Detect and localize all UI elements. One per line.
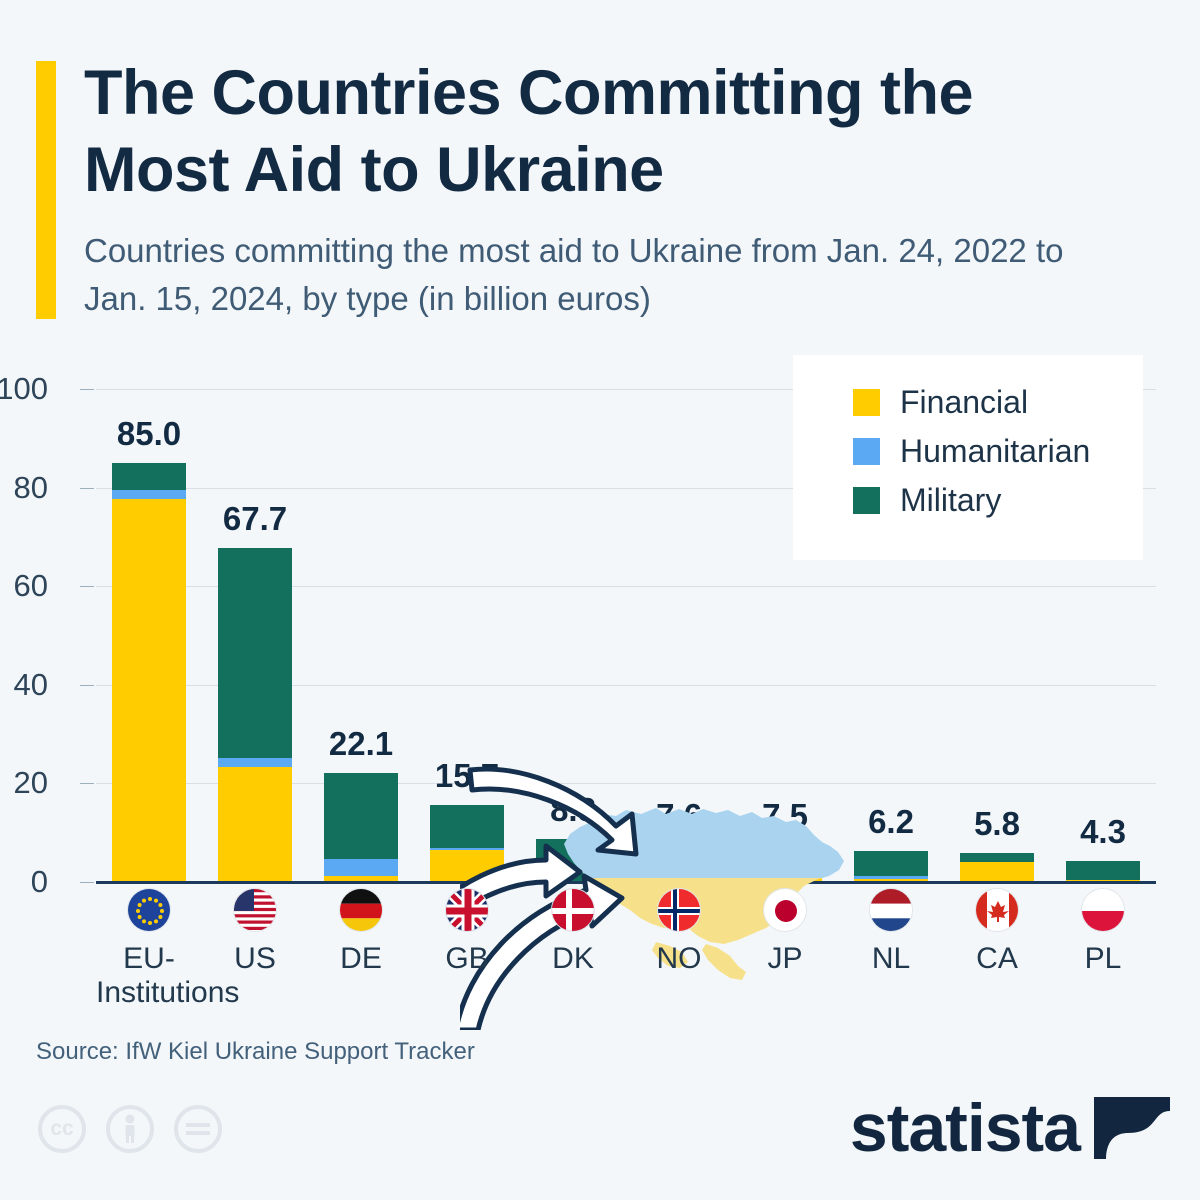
bar-column[interactable] bbox=[642, 845, 716, 882]
y-tick-label: 20 bbox=[0, 767, 48, 798]
cc-noderivs-icon bbox=[174, 1105, 222, 1153]
bar-column[interactable] bbox=[748, 845, 822, 882]
legend-swatch-financial bbox=[853, 389, 880, 416]
bar-value-label: 7.6 bbox=[656, 797, 702, 835]
bar-segment-military[interactable] bbox=[324, 773, 398, 859]
bar-column[interactable] bbox=[1066, 861, 1140, 882]
bar-segment-financial[interactable] bbox=[642, 862, 716, 882]
x-axis-item[interactable]: DE bbox=[308, 888, 414, 976]
bar-value-label: 22.1 bbox=[329, 725, 393, 763]
bar-column[interactable] bbox=[430, 805, 504, 882]
bar-segment-humanitarian[interactable] bbox=[218, 758, 292, 767]
bar-value-label: 15.7 bbox=[435, 757, 499, 795]
bar-value-label: 5.8 bbox=[974, 805, 1020, 843]
legend-swatch-military bbox=[853, 487, 880, 514]
bar-segment-humanitarian[interactable] bbox=[112, 490, 186, 499]
bar-value-label: 7.5 bbox=[762, 797, 808, 835]
legend-item-humanitarian[interactable]: Humanitarian bbox=[853, 432, 1143, 470]
bar-value-label: 67.7 bbox=[223, 500, 287, 538]
cc-attribution-icon bbox=[106, 1105, 154, 1153]
x-axis-label: CA bbox=[944, 942, 1050, 976]
bar-column[interactable] bbox=[324, 773, 398, 882]
bar-segment-humanitarian[interactable] bbox=[854, 876, 928, 878]
x-axis-label: GB bbox=[414, 942, 520, 976]
y-tick-label: 40 bbox=[0, 669, 48, 700]
y-tick-label: 0 bbox=[0, 866, 48, 897]
x-axis-label: DE bbox=[308, 942, 414, 976]
bar-segment-military[interactable] bbox=[536, 839, 610, 882]
jp-flag bbox=[763, 888, 807, 932]
header: The Countries Committing the Most Aid to… bbox=[36, 55, 1156, 325]
page-subtitle: Countries committing the most aid to Ukr… bbox=[84, 227, 1114, 323]
bar-segment-military[interactable] bbox=[1066, 861, 1140, 880]
x-axis-item[interactable]: US bbox=[202, 888, 308, 976]
equals-glyph bbox=[185, 1121, 211, 1137]
x-axis-label: JP bbox=[732, 942, 838, 976]
legend-label-financial: Financial bbox=[900, 386, 1028, 418]
legend-item-financial[interactable]: Financial bbox=[853, 383, 1143, 421]
source-note: Source: IfW Kiel Ukraine Support Tracker bbox=[36, 1038, 475, 1066]
accent-bar bbox=[36, 61, 56, 319]
bar-segment-humanitarian[interactable] bbox=[748, 845, 822, 852]
bar-column[interactable] bbox=[112, 463, 186, 882]
x-axis-item[interactable]: GB bbox=[414, 888, 520, 976]
x-axis-label: EU- Institutions bbox=[96, 942, 202, 1010]
statista-wordmark: statista bbox=[850, 1094, 1080, 1162]
gb-flag bbox=[445, 888, 489, 932]
bar-column[interactable] bbox=[218, 548, 292, 882]
bar-column[interactable] bbox=[536, 839, 610, 882]
x-axis-categories: EU- InstitutionsUSDEGBDKNOJPNLCAPL bbox=[96, 888, 1156, 1013]
bar-segment-financial[interactable] bbox=[960, 862, 1034, 882]
x-axis-label: DK bbox=[520, 942, 626, 976]
bar-value-label: 6.2 bbox=[868, 803, 914, 841]
bar-segment-military[interactable] bbox=[960, 853, 1034, 862]
x-axis-label: PL bbox=[1050, 942, 1156, 976]
cc-icon: cc bbox=[38, 1105, 86, 1153]
x-axis-label: NO bbox=[626, 942, 732, 976]
legend-label-military: Military bbox=[900, 484, 1001, 516]
legend-item-military[interactable]: Military bbox=[853, 481, 1143, 519]
bar-segment-financial[interactable] bbox=[748, 852, 822, 882]
nl-flag bbox=[869, 888, 913, 932]
us-flag bbox=[233, 888, 277, 932]
x-axis-item[interactable]: PL bbox=[1050, 888, 1156, 976]
bar-segment-humanitarian[interactable] bbox=[324, 859, 398, 876]
legend-label-humanitarian: Humanitarian bbox=[900, 435, 1090, 467]
no-flag bbox=[657, 888, 701, 932]
y-tick-mark bbox=[80, 685, 94, 686]
bar-value-label: 8.8 bbox=[550, 791, 596, 829]
eu-flag bbox=[127, 888, 171, 932]
dk-flag bbox=[551, 888, 595, 932]
bar-segment-military[interactable] bbox=[854, 851, 928, 876]
ca-flag bbox=[975, 888, 1019, 932]
de-flag bbox=[339, 888, 383, 932]
x-axis-item[interactable]: NL bbox=[838, 888, 944, 976]
y-tick-label: 100 bbox=[0, 373, 48, 404]
y-tick-mark bbox=[80, 783, 94, 784]
legend-swatch-humanitarian bbox=[853, 438, 880, 465]
x-axis-line bbox=[96, 881, 1156, 884]
license-icons: cc bbox=[38, 1105, 222, 1153]
x-axis-label: US bbox=[202, 942, 308, 976]
bar-column[interactable] bbox=[854, 851, 928, 882]
x-axis-item[interactable]: JP bbox=[732, 888, 838, 976]
x-axis-item[interactable]: DK bbox=[520, 888, 626, 976]
bar-segment-military[interactable] bbox=[218, 548, 292, 758]
bar-value-label: 4.3 bbox=[1080, 813, 1126, 851]
infographic-page: The Countries Committing the Most Aid to… bbox=[0, 0, 1200, 1200]
page-title: The Countries Committing the Most Aid to… bbox=[84, 55, 1084, 209]
bar-column[interactable] bbox=[960, 853, 1034, 882]
pl-flag bbox=[1081, 888, 1125, 932]
statista-s-mark bbox=[1094, 1097, 1170, 1159]
chart-legend: Financial Humanitarian Military bbox=[793, 355, 1143, 560]
bar-segment-military[interactable] bbox=[430, 805, 504, 849]
x-axis-item[interactable]: EU- Institutions bbox=[96, 888, 202, 1010]
person-glyph bbox=[119, 1114, 141, 1144]
statista-logo: statista bbox=[850, 1094, 1170, 1162]
y-tick-mark bbox=[80, 389, 94, 390]
y-tick-label: 60 bbox=[0, 570, 48, 601]
bar-segment-military[interactable] bbox=[642, 845, 716, 863]
bar-value-label: 85.0 bbox=[117, 415, 181, 453]
bar-segment-financial[interactable] bbox=[218, 767, 292, 882]
bar-segment-financial[interactable] bbox=[430, 850, 504, 882]
bar-segment-humanitarian[interactable] bbox=[430, 848, 504, 850]
y-tick-label: 80 bbox=[0, 472, 48, 503]
chart-region: 020406080100 85.067.722.115.78.87.67.56.… bbox=[0, 355, 1200, 915]
bar-segment-financial[interactable] bbox=[112, 499, 186, 882]
x-axis-label: NL bbox=[838, 942, 944, 976]
y-tick-mark bbox=[80, 586, 94, 587]
y-tick-mark bbox=[80, 488, 94, 489]
bar-segment-military[interactable] bbox=[112, 463, 186, 490]
x-axis-item[interactable]: NO bbox=[626, 888, 732, 976]
x-axis-item[interactable]: CA bbox=[944, 888, 1050, 976]
y-tick-mark bbox=[80, 882, 94, 883]
